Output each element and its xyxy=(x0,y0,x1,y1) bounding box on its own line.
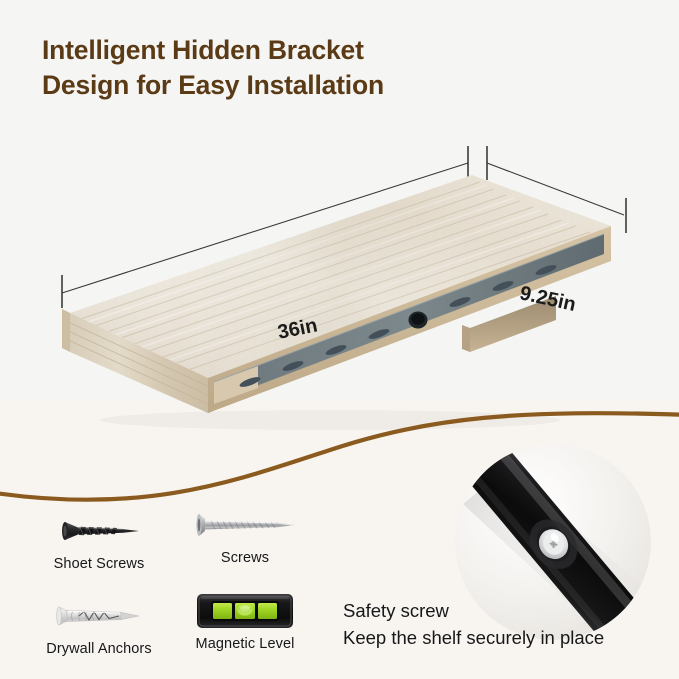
safety-text-line-1: Safety screw xyxy=(343,598,604,625)
accessory-item-drywall-anchors: Drywall Anchors xyxy=(24,593,174,657)
infographic-canvas: Intelligent Hidden Bracket Design for Ea… xyxy=(0,0,679,679)
safety-text-line-2: Keep the shelf securely in place xyxy=(343,625,604,652)
accessory-label: Drywall Anchors xyxy=(24,641,174,657)
drywall-anchor-icon xyxy=(24,593,174,638)
product-illustration: 36in 9.25in xyxy=(0,130,679,430)
magnetic-level-icon xyxy=(170,588,320,633)
black-screw-icon xyxy=(24,508,174,553)
page-title-line-1: Intelligent Hidden Bracket xyxy=(42,35,364,65)
page-title-line-2: Design for Easy Installation xyxy=(42,68,602,103)
safety-screw-description: Safety screw Keep the shelf securely in … xyxy=(343,598,604,652)
safety-screw-hole xyxy=(409,312,428,329)
accessory-label: Screws xyxy=(170,550,320,566)
accessory-label: Shoet Screws xyxy=(24,556,174,572)
silver-screw-icon xyxy=(170,502,320,547)
accessory-label: Magnetic Level xyxy=(170,636,320,652)
accessory-item-magnetic-level: Magnetic Level xyxy=(170,588,320,652)
accessory-item-screws: Screws xyxy=(170,502,320,566)
accessories-list: Shoet Screws xyxy=(18,500,328,665)
accessory-item-shoet-screws: Shoet Screws xyxy=(24,508,174,572)
shelf-svg xyxy=(0,130,679,430)
page-title: Intelligent Hidden Bracket Design for Ea… xyxy=(42,33,602,103)
